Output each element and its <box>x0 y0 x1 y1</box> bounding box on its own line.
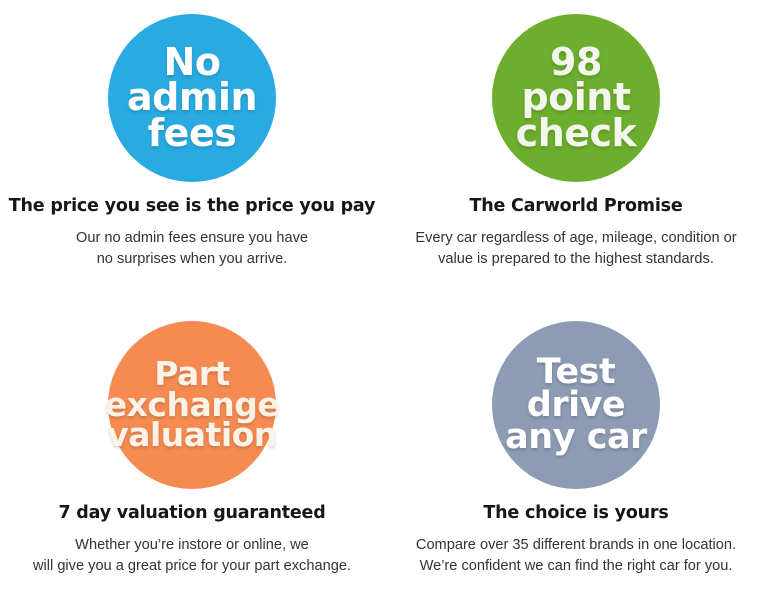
badge-circle-no-admin-fees: No admin fees <box>108 14 276 182</box>
badge-label: Test drive any car <box>503 356 649 454</box>
card-heading: The Carworld Promise <box>461 196 690 216</box>
badge-wrap: No admin fees <box>0 0 384 196</box>
benefit-card-part-exchange-valuation: Part exchange valuation 7 day valuation … <box>0 307 384 614</box>
card-heading: 7 day valuation guaranteed <box>50 503 333 523</box>
badge-circle-98-point-check: 98 point check <box>492 14 660 182</box>
card-body: Compare over 35 different brands in one … <box>410 535 742 576</box>
benefit-card-test-drive-any-car: Test drive any car The choice is yours C… <box>384 307 768 614</box>
badge-wrap: 98 point check <box>384 0 768 196</box>
benefit-card-no-admin-fees: No admin fees The price you see is the p… <box>0 0 384 307</box>
badge-wrap: Test drive any car <box>384 307 768 503</box>
card-heading: The choice is yours <box>475 503 676 523</box>
benefits-grid: No admin fees The price you see is the p… <box>0 0 768 614</box>
badge-label: Part exchange valuation <box>103 359 282 451</box>
card-body: Whether you’re instore or online, we wil… <box>27 535 357 576</box>
card-body: Every car regardless of age, mileage, co… <box>409 228 742 269</box>
badge-label: No admin fees <box>125 45 259 151</box>
badge-wrap: Part exchange valuation <box>0 307 384 503</box>
card-body: Our no admin fees ensure you have no sur… <box>70 228 314 269</box>
badge-label: 98 point check <box>514 45 639 151</box>
badge-circle-part-exchange-valuation: Part exchange valuation <box>108 321 276 489</box>
card-heading: The price you see is the price you pay <box>1 196 383 216</box>
benefit-card-98-point-check: 98 point check The Carworld Promise Ever… <box>384 0 768 307</box>
badge-circle-test-drive-any-car: Test drive any car <box>492 321 660 489</box>
